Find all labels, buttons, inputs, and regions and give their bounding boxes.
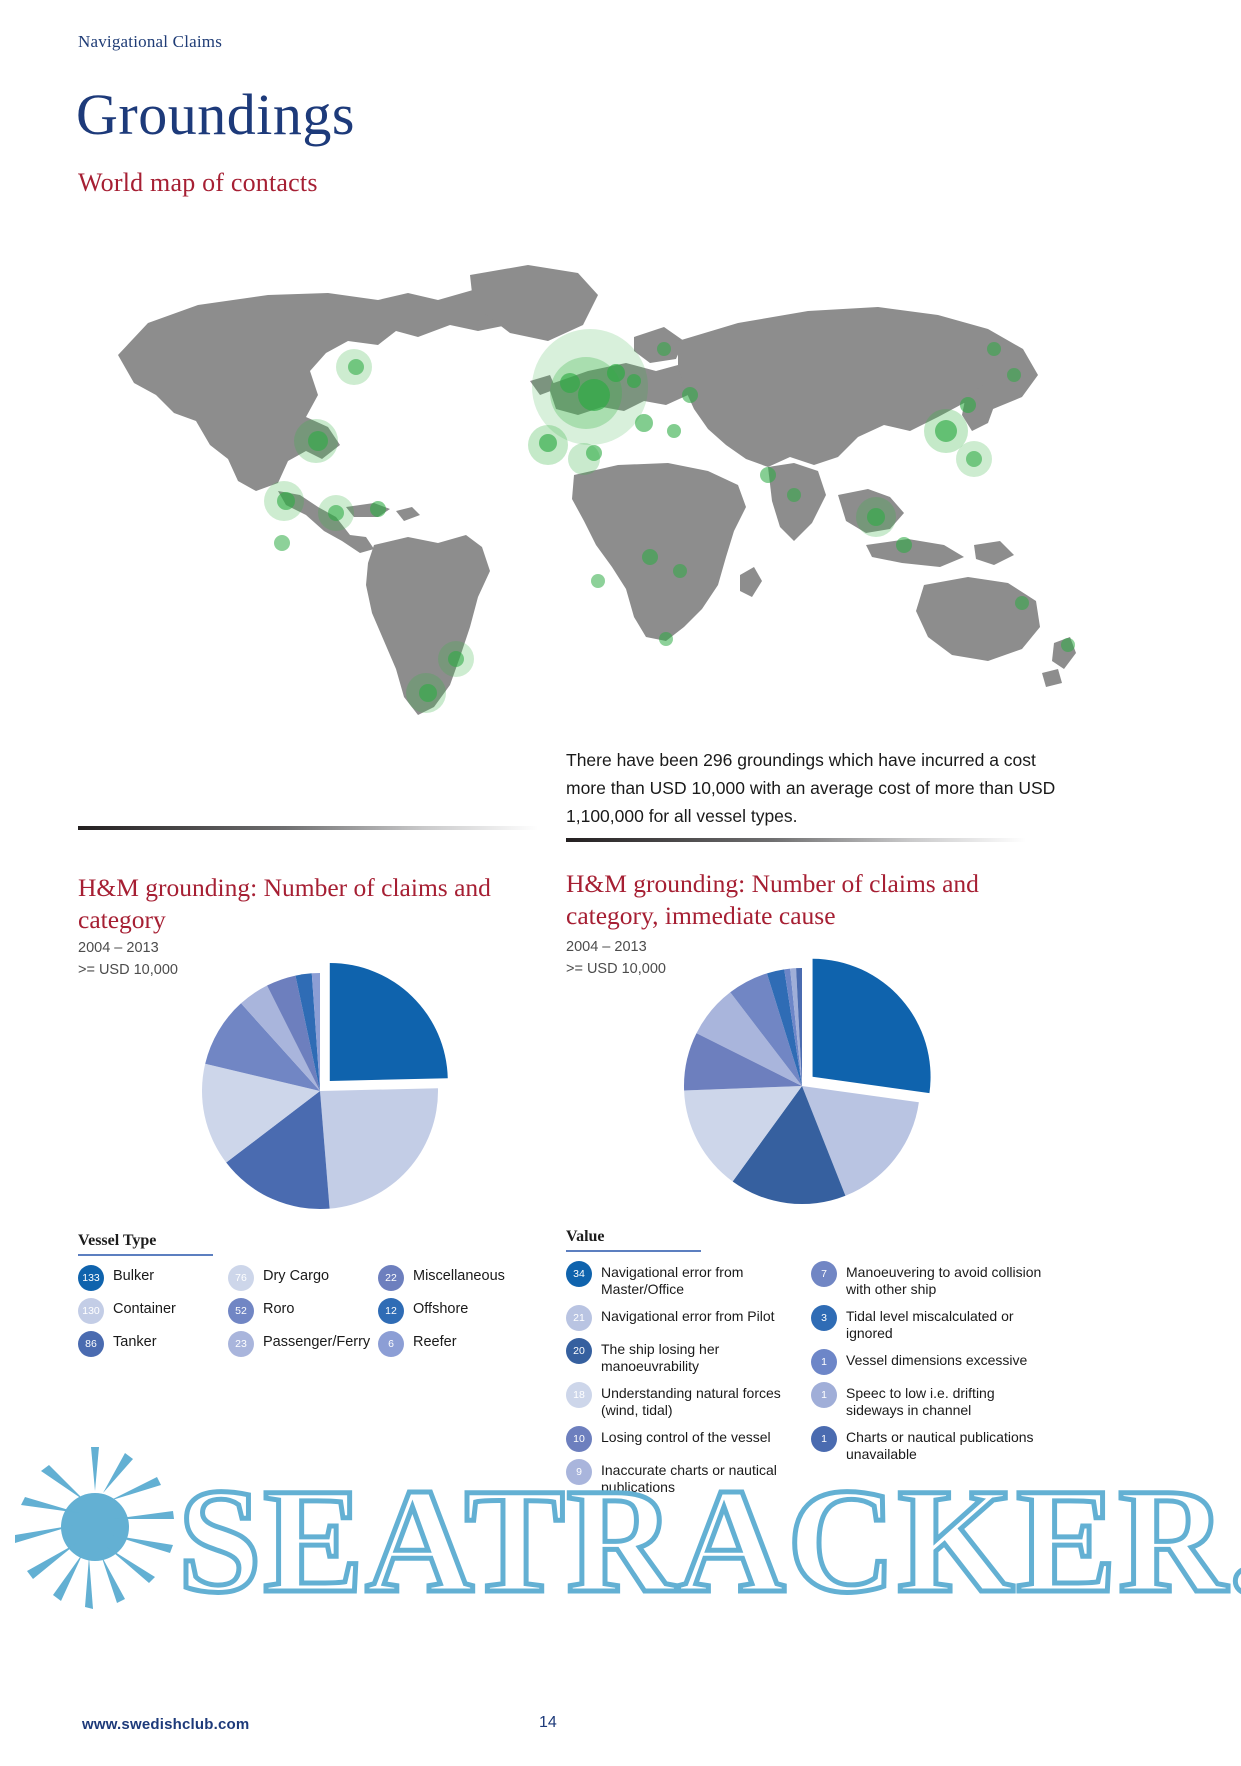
pie-slice[interactable] bbox=[330, 963, 448, 1081]
legend-swatch: 52 bbox=[228, 1298, 254, 1324]
divider-right bbox=[566, 838, 1026, 842]
legend-item-label: Losing control of the vessel bbox=[601, 1426, 771, 1446]
legend-item[interactable]: 1Speec to low i.e. drifting sideways in … bbox=[811, 1382, 1056, 1419]
legend-item[interactable]: 3Tidal level miscalculated or ignored bbox=[811, 1305, 1056, 1342]
website-link[interactable]: www.swedishclub.com bbox=[82, 1716, 249, 1733]
legend-item-label: Inaccurate charts or nautical publicatio… bbox=[601, 1459, 811, 1496]
legend-item[interactable]: 34Navigational error from Master/Office bbox=[566, 1261, 811, 1298]
legend-swatch: 130 bbox=[78, 1298, 104, 1324]
legend-item[interactable]: 52Roro bbox=[228, 1298, 378, 1324]
legend-item[interactable]: 18Understanding natural forces (wind, ti… bbox=[566, 1382, 811, 1419]
legend-item[interactable]: 130Container bbox=[78, 1298, 228, 1324]
legend-column-1: 76Dry Cargo52Roro23Passenger/Ferry bbox=[228, 1265, 378, 1364]
legend-item-label: Navigational error from Pilot bbox=[601, 1305, 775, 1325]
legend-item-label: Bulker bbox=[113, 1265, 154, 1286]
value-legend-title: Value bbox=[566, 1228, 1056, 1250]
world-map bbox=[78, 245, 1088, 715]
legend-underline bbox=[78, 1254, 213, 1256]
vessel-type-pie-chart bbox=[190, 960, 450, 1222]
page-number: 14 bbox=[539, 1714, 557, 1732]
right-chart-heading: H&M grounding: Number of claims and cate… bbox=[566, 868, 1026, 932]
legend-item[interactable]: 12Offshore bbox=[378, 1298, 528, 1324]
legend-column-2: 22Miscellaneous12Offshore6Reefer bbox=[378, 1265, 528, 1364]
legend-column-0: 133Bulker130Container86Tanker bbox=[78, 1265, 228, 1364]
intro-paragraph: There have been 296 groundings which hav… bbox=[566, 746, 1056, 831]
legend-item[interactable]: 21Navigational error from Pilot bbox=[566, 1305, 811, 1331]
left-chart-heading: H&M grounding: Number of claims and cate… bbox=[78, 872, 498, 936]
legend-column-1: 7Manoeuvering to avoid collision with ot… bbox=[811, 1261, 1056, 1504]
legend-swatch: 86 bbox=[78, 1331, 104, 1357]
left-chart-period: 2004 – 2013 bbox=[78, 938, 178, 960]
legend-item-label: Miscellaneous bbox=[413, 1265, 505, 1286]
legend-underline bbox=[566, 1250, 701, 1252]
legend-item[interactable]: 1Vessel dimensions excessive bbox=[811, 1349, 1056, 1375]
legend-column-0: 34Navigational error from Master/Office2… bbox=[566, 1261, 811, 1504]
legend-item[interactable]: 6Reefer bbox=[378, 1331, 528, 1357]
right-chart-meta: 2004 – 2013 >= USD 10,000 bbox=[566, 937, 666, 981]
legend-item[interactable]: 7Manoeuvering to avoid collision with ot… bbox=[811, 1261, 1056, 1298]
immediate-cause-pie-svg bbox=[672, 955, 932, 1217]
legend-swatch: 76 bbox=[228, 1265, 254, 1291]
legend-swatch: 22 bbox=[378, 1265, 404, 1291]
pie-slice[interactable] bbox=[813, 959, 931, 1093]
legend-item-label: Understanding natural forces (wind, tida… bbox=[601, 1382, 811, 1419]
legend-swatch: 3 bbox=[811, 1305, 837, 1331]
legend-item-label: Tanker bbox=[113, 1331, 157, 1352]
vessel-type-pie-svg bbox=[190, 960, 450, 1222]
legend-swatch: 133 bbox=[78, 1265, 104, 1291]
legend-swatch: 6 bbox=[378, 1331, 404, 1357]
legend-swatch: 9 bbox=[566, 1459, 592, 1485]
legend-item-label: The ship losing her manoeuvrability bbox=[601, 1338, 811, 1375]
legend-item-label: Container bbox=[113, 1298, 176, 1319]
legend-swatch: 20 bbox=[566, 1338, 592, 1364]
value-legend-columns: 34Navigational error from Master/Office2… bbox=[566, 1261, 1056, 1504]
legend-item-label: Manoeuvering to avoid collision with oth… bbox=[846, 1261, 1056, 1298]
legend-item-label: Dry Cargo bbox=[263, 1265, 329, 1286]
legend-item-label: Vessel dimensions excessive bbox=[846, 1349, 1027, 1369]
legend-swatch: 1 bbox=[811, 1349, 837, 1375]
legend-item-label: Tidal level miscalculated or ignored bbox=[846, 1305, 1056, 1342]
divider-left bbox=[78, 826, 538, 830]
page-title: Groundings bbox=[76, 86, 355, 144]
legend-item[interactable]: 133Bulker bbox=[78, 1265, 228, 1291]
legend-item[interactable]: 23Passenger/Ferry bbox=[228, 1331, 378, 1357]
legend-item[interactable]: 1Charts or nautical publications unavail… bbox=[811, 1426, 1056, 1463]
legend-item[interactable]: 76Dry Cargo bbox=[228, 1265, 378, 1291]
legend-swatch: 21 bbox=[566, 1305, 592, 1331]
legend-swatch: 12 bbox=[378, 1298, 404, 1324]
legend-item-label: Navigational error from Master/Office bbox=[601, 1261, 811, 1298]
legend-item-label: Reefer bbox=[413, 1331, 457, 1352]
right-chart-threshold: >= USD 10,000 bbox=[566, 959, 666, 981]
legend-swatch: 18 bbox=[566, 1382, 592, 1408]
left-chart-threshold: >= USD 10,000 bbox=[78, 960, 178, 982]
legend-item[interactable]: 9Inaccurate charts or nautical publicati… bbox=[566, 1459, 811, 1496]
legend-swatch: 10 bbox=[566, 1426, 592, 1452]
legend-item-label: Passenger/Ferry bbox=[263, 1331, 370, 1352]
value-legend: Value 34Navigational error from Master/O… bbox=[566, 1228, 1056, 1503]
left-chart-meta: 2004 – 2013 >= USD 10,000 bbox=[78, 938, 178, 982]
pie-slice[interactable] bbox=[320, 1088, 438, 1208]
page-subtitle: World map of contacts bbox=[78, 168, 318, 198]
legend-item[interactable]: 86Tanker bbox=[78, 1331, 228, 1357]
vessel-type-legend: Vessel Type 133Bulker130Container86Tanke… bbox=[78, 1232, 538, 1364]
sunburst-icon bbox=[15, 1447, 174, 1609]
legend-swatch: 23 bbox=[228, 1331, 254, 1357]
legend-item[interactable]: 20The ship losing her manoeuvrability bbox=[566, 1338, 811, 1375]
legend-swatch: 1 bbox=[811, 1426, 837, 1452]
legend-item-label: Offshore bbox=[413, 1298, 468, 1319]
vessel-type-legend-title: Vessel Type bbox=[78, 1232, 538, 1254]
section-kicker: Navigational Claims bbox=[78, 32, 222, 52]
legend-swatch: 7 bbox=[811, 1261, 837, 1287]
vessel-type-legend-columns: 133Bulker130Container86Tanker76Dry Cargo… bbox=[78, 1265, 538, 1364]
legend-swatch: 1 bbox=[811, 1382, 837, 1408]
right-chart-period: 2004 – 2013 bbox=[566, 937, 666, 959]
legend-item[interactable]: 10Losing control of the vessel bbox=[566, 1426, 811, 1452]
legend-item-label: Speec to low i.e. drifting sideways in c… bbox=[846, 1382, 1056, 1419]
legend-item-label: Roro bbox=[263, 1298, 294, 1319]
legend-item[interactable]: 22Miscellaneous bbox=[378, 1265, 528, 1291]
immediate-cause-pie-chart bbox=[672, 955, 932, 1217]
legend-item-label: Charts or nautical publications unavaila… bbox=[846, 1426, 1056, 1463]
legend-swatch: 34 bbox=[566, 1261, 592, 1287]
